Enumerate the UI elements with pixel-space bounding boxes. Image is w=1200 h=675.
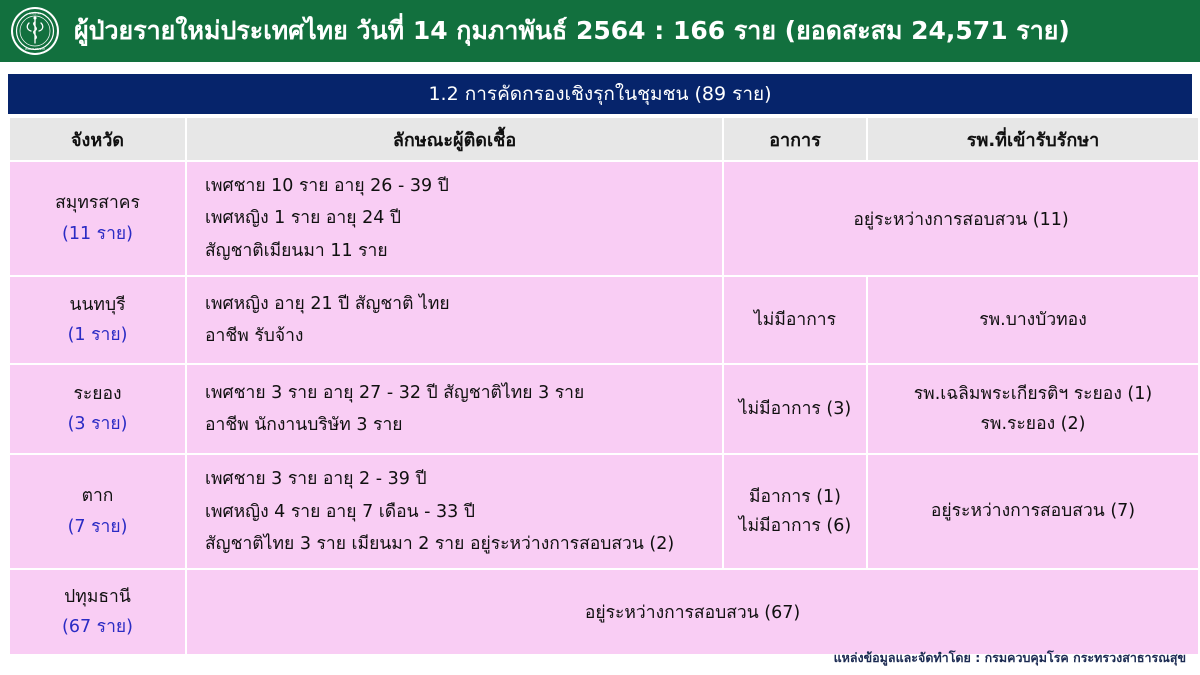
- hospital-line: อยู่ระหว่างการสอบสวน (7): [868, 496, 1198, 527]
- moph-caduceus-emblem-icon: MINISTRY PUBLIC HEALTH: [10, 6, 60, 56]
- profile-line: เพศชาย 3 ราย อายุ 27 - 32 ปี สัญชาติไทย …: [205, 377, 722, 409]
- profile-line: สัญชาติเมียนมา 11 ราย: [205, 235, 722, 267]
- cell-symptom: ไม่มีอาการ: [724, 277, 866, 363]
- province-case-count: (11 ราย): [10, 219, 185, 250]
- table-row: ปทุมธานี (67 ราย) อยู่ระหว่างการสอบสวน (…: [10, 570, 1198, 654]
- column-header-symptom: อาการ: [724, 118, 866, 160]
- profile-line: เพศหญิง 4 ราย อายุ 7 เดือน - 33 ปี: [205, 496, 722, 528]
- cell-province: นนทบุรี (1 ราย): [10, 277, 185, 363]
- symptom-line: ไม่มีอาการ (6): [724, 512, 866, 541]
- cell-province: ปทุมธานี (67 ราย): [10, 570, 185, 654]
- cell-province: ระยอง (3 ราย): [10, 365, 185, 453]
- report-header-banner: MINISTRY PUBLIC HEALTH ผู้ป่วยรายใหม่ประ…: [0, 0, 1200, 62]
- case-screening-table: จังหวัด ลักษณะผู้ติดเชื้อ อาการ รพ.ที่เข…: [8, 116, 1200, 656]
- column-header-province: จังหวัด: [10, 118, 185, 160]
- profile-line: เพศชาย 3 ราย อายุ 2 - 39 ปี: [205, 463, 722, 495]
- cell-profile: เพศชาย 10 ราย อายุ 26 - 39 ปี เพศหญิง 1 …: [187, 162, 722, 275]
- profile-line: สัญชาติไทย 3 ราย เมียนมา 2 ราย อยู่ระหว่…: [205, 528, 722, 560]
- source-note: แหล่งข้อมูลและจัดทำโดย : กรมควบคุมโรค กร…: [834, 648, 1186, 668]
- province-name: ปทุมธานี: [10, 582, 185, 613]
- cell-province: ตาก (7 ราย): [10, 455, 185, 568]
- cell-profile: เพศชาย 3 ราย อายุ 2 - 39 ปี เพศหญิง 4 รา…: [187, 455, 722, 568]
- profile-line: อาชีพ นักงานบริษัท 3 ราย: [205, 409, 722, 441]
- svg-text:MINISTRY: MINISTRY: [29, 12, 42, 16]
- table-row: ตาก (7 ราย) เพศชาย 3 ราย อายุ 2 - 39 ปี …: [10, 455, 1198, 568]
- hospital-line: รพ.ระยอง (2): [868, 409, 1198, 440]
- cell-hospital: อยู่ระหว่างการสอบสวน (7): [868, 455, 1198, 568]
- province-name: นนทบุรี: [10, 290, 185, 321]
- table-row: ระยอง (3 ราย) เพศชาย 3 ราย อายุ 27 - 32 …: [10, 365, 1198, 453]
- province-name: สมุทรสาคร: [10, 188, 185, 219]
- profile-line: เพศชาย 10 ราย อายุ 26 - 39 ปี: [205, 170, 722, 202]
- province-name: ระยอง: [10, 379, 185, 410]
- table-body: สมุทรสาคร (11 ราย) เพศชาย 10 ราย อายุ 26…: [10, 162, 1198, 654]
- cell-hospital: รพ.เฉลิมพระเกียรติฯ ระยอง (1) รพ.ระยอง (…: [868, 365, 1198, 453]
- cell-symptom-hospital-merged: อยู่ระหว่างการสอบสวน (11): [724, 162, 1198, 275]
- cell-province: สมุทรสาคร (11 ราย): [10, 162, 185, 275]
- profile-line: เพศหญิง อายุ 21 ปี สัญชาติ ไทย: [205, 288, 722, 320]
- cell-profile: เพศชาย 3 ราย อายุ 27 - 32 ปี สัญชาติไทย …: [187, 365, 722, 453]
- cell-profile: เพศหญิง อายุ 21 ปี สัญชาติ ไทย อาชีพ รับ…: [187, 277, 722, 363]
- report-page: MINISTRY PUBLIC HEALTH ผู้ป่วยรายใหม่ประ…: [0, 0, 1200, 675]
- section-title: 1.2 การคัดกรองเชิงรุกในชุมชน (89 ราย): [428, 84, 771, 105]
- svg-text:PUBLIC HEALTH: PUBLIC HEALTH: [25, 47, 45, 51]
- profile-line: อาชีพ รับจ้าง: [205, 320, 722, 352]
- report-title: ผู้ป่วยรายใหม่ประเทศไทย วันที่ 14 กุมภาพ…: [74, 17, 1070, 45]
- table-header: จังหวัด ลักษณะผู้ติดเชื้อ อาการ รพ.ที่เข…: [10, 118, 1198, 160]
- column-header-profile: ลักษณะผู้ติดเชื้อ: [187, 118, 722, 160]
- section-title-bar: 1.2 การคัดกรองเชิงรุกในชุมชน (89 ราย): [8, 74, 1192, 114]
- cell-symptom: มีอาการ (1) ไม่มีอาการ (6): [724, 455, 866, 568]
- province-case-count: (3 ราย): [10, 409, 185, 440]
- cell-profile-symptom-hospital-merged: อยู่ระหว่างการสอบสวน (67): [187, 570, 1198, 654]
- table-row: สมุทรสาคร (11 ราย) เพศชาย 10 ราย อายุ 26…: [10, 162, 1198, 275]
- hospital-line: รพ.เฉลิมพระเกียรติฯ ระยอง (1): [868, 379, 1198, 410]
- province-case-count: (67 ราย): [10, 612, 185, 643]
- profile-line: เพศหญิง 1 ราย อายุ 24 ปี: [205, 202, 722, 234]
- province-case-count: (1 ราย): [10, 320, 185, 351]
- province-name: ตาก: [10, 481, 185, 512]
- symptom-line: ไม่มีอาการ: [724, 306, 866, 335]
- symptom-line: มีอาการ (1): [724, 483, 866, 512]
- province-case-count: (7 ราย): [10, 512, 185, 543]
- cell-hospital: รพ.บางบัวทอง: [868, 277, 1198, 363]
- table-row: นนทบุรี (1 ราย) เพศหญิง อายุ 21 ปี สัญชา…: [10, 277, 1198, 363]
- symptom-line: ไม่มีอาการ (3): [724, 395, 866, 424]
- table-header-row: จังหวัด ลักษณะผู้ติดเชื้อ อาการ รพ.ที่เข…: [10, 118, 1198, 160]
- column-header-hospital: รพ.ที่เข้ารับรักษา: [868, 118, 1198, 160]
- hospital-line: รพ.บางบัวทอง: [868, 305, 1198, 336]
- cell-symptom: ไม่มีอาการ (3): [724, 365, 866, 453]
